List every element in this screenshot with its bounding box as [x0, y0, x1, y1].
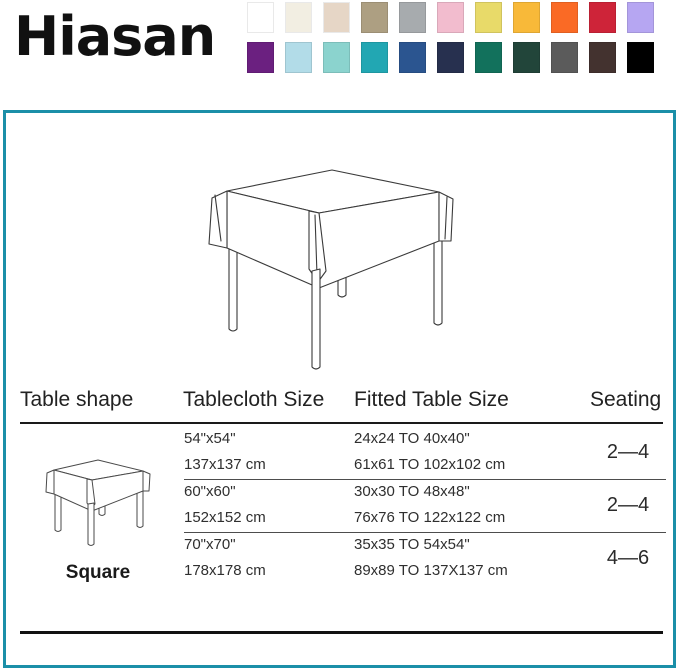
cell-fitted-table-size: 35x35 TO 54x54" 89x89 TO 137X137 cm: [354, 532, 584, 584]
tablecloth-inches: 54"x54": [184, 426, 349, 452]
tablecloth-inches: 70"x70": [184, 532, 349, 558]
square-table-icon: [33, 452, 163, 557]
spec-table-body: Square 54"x54" 137x137 cm 24x24 TO 40x40…: [13, 426, 666, 626]
spec-table: Table shape Tablecloth Size Fitted Table…: [13, 385, 666, 665]
swatch-black[interactable]: [627, 42, 654, 73]
fitted-cm: 61x61 TO 102x102 cm: [354, 452, 584, 478]
column-header-seating: Seating: [590, 385, 661, 415]
table-row: 54"x54" 137x137 cm 24x24 TO 40x40" 61x61…: [184, 426, 666, 479]
spec-table-header: Table shape Tablecloth Size Fitted Table…: [13, 385, 666, 421]
cell-seating: 2—4: [590, 479, 666, 532]
row-divider: [184, 532, 590, 533]
cell-seating: 4—6: [590, 532, 666, 585]
header-divider: [20, 422, 663, 424]
tablecloth-cm: 152x152 cm: [184, 505, 349, 531]
swatch-row-two: [247, 42, 667, 73]
shape-label: Square: [13, 562, 183, 584]
tablecloth-inches: 60"x60": [184, 479, 349, 505]
swatch-white[interactable]: [247, 2, 274, 33]
color-swatch-panel: [247, 2, 667, 74]
swatch-emerald[interactable]: [475, 42, 502, 73]
swatch-taupe[interactable]: [361, 2, 388, 33]
fitted-cm: 76x76 TO 122x122 cm: [354, 505, 584, 531]
swatch-beige[interactable]: [323, 2, 350, 33]
brand-logo: Hiasan: [14, 8, 215, 66]
column-header-shape: Table shape: [20, 385, 133, 415]
swatch-dark-brown[interactable]: [589, 42, 616, 73]
swatch-red[interactable]: [589, 2, 616, 33]
column-header-fitted-table-size: Fitted Table Size: [354, 385, 509, 415]
swatch-light-blue[interactable]: [285, 42, 312, 73]
content-frame: Table shape Tablecloth Size Fitted Table…: [3, 110, 676, 668]
cell-tablecloth-size: 60"x60" 152x152 cm: [184, 479, 349, 531]
fitted-inches: 35x35 TO 54x54": [354, 532, 584, 558]
table-bottom-divider: [20, 631, 663, 634]
swatch-hunter-green[interactable]: [513, 42, 540, 73]
square-table-illustration: [181, 151, 491, 376]
cell-tablecloth-size: 54"x54" 137x137 cm: [184, 426, 349, 478]
table-row: 60"x60" 152x152 cm 30x30 TO 48x48" 76x76…: [184, 479, 666, 532]
swatch-purple[interactable]: [247, 42, 274, 73]
cell-fitted-table-size: 24x24 TO 40x40" 61x61 TO 102x102 cm: [354, 426, 584, 478]
swatch-navy[interactable]: [437, 42, 464, 73]
swatch-pink[interactable]: [437, 2, 464, 33]
swatch-ivory[interactable]: [285, 2, 312, 33]
fitted-cm: 89x89 TO 137X137 cm: [354, 558, 584, 584]
row-divider: [184, 479, 590, 480]
swatch-teal[interactable]: [361, 42, 388, 73]
fitted-inches: 30x30 TO 48x48": [354, 479, 584, 505]
fitted-inches: 24x24 TO 40x40": [354, 426, 584, 452]
column-header-tablecloth-size: Tablecloth Size: [183, 385, 324, 415]
swatch-gold-yellow[interactable]: [513, 2, 540, 33]
swatch-denim-blue[interactable]: [399, 42, 426, 73]
row-divider-seating: [590, 479, 666, 480]
table-row: 70"x70" 178x178 cm 35x35 TO 54x54" 89x89…: [184, 532, 666, 585]
swatch-light-yellow[interactable]: [475, 2, 502, 33]
row-divider-seating: [590, 532, 666, 533]
cell-tablecloth-size: 70"x70" 178x178 cm: [184, 532, 349, 584]
shape-cell: Square: [13, 426, 183, 626]
tablecloth-cm: 137x137 cm: [184, 452, 349, 478]
swatch-silver-grey[interactable]: [399, 2, 426, 33]
swatch-aqua[interactable]: [323, 42, 350, 73]
illustration-area: [6, 113, 673, 381]
page-header: Hiasan: [0, 0, 679, 96]
cell-fitted-table-size: 30x30 TO 48x48" 76x76 TO 122x122 cm: [354, 479, 584, 531]
swatch-orange[interactable]: [551, 2, 578, 33]
swatch-lavender[interactable]: [627, 2, 654, 33]
tablecloth-cm: 178x178 cm: [184, 558, 349, 584]
cell-seating: 2—4: [590, 426, 666, 479]
swatch-dark-grey[interactable]: [551, 42, 578, 73]
swatch-row-one: [247, 2, 667, 33]
